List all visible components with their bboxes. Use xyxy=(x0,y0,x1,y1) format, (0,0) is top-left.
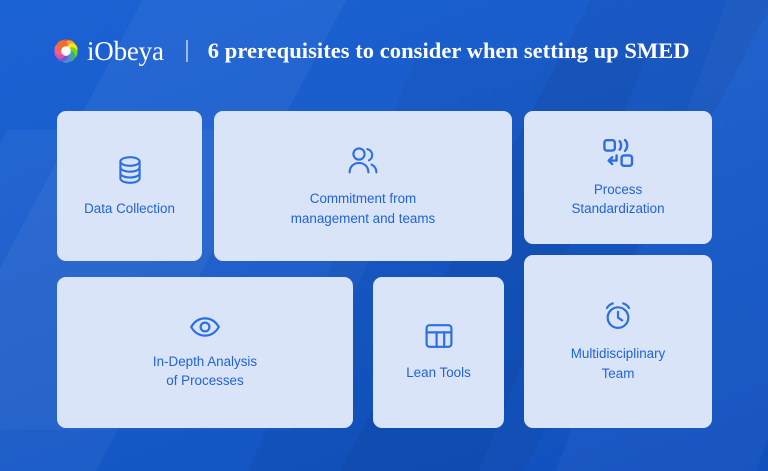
card-process-standardization[interactable]: Process Standardization xyxy=(524,111,712,244)
card-lean-tools[interactable]: Lean Tools xyxy=(373,277,504,428)
card-multidisciplinary-team[interactable]: Multidisciplinary Team xyxy=(524,255,712,428)
brand-name: iObeya xyxy=(87,38,164,65)
card-commitment[interactable]: Commitment from management and teams xyxy=(214,111,512,261)
card-label: Lean Tools xyxy=(406,363,471,382)
alarm-clock-icon xyxy=(602,300,634,332)
card-in-depth-analysis[interactable]: In-Depth Analysis of Processes xyxy=(57,277,353,428)
board-layout-icon xyxy=(424,322,454,350)
header-bar: iObeya 6 prerequisites to consider when … xyxy=(52,33,690,69)
iobeya-flower-logo-icon xyxy=(52,37,80,65)
card-label: In-Depth Analysis of Processes xyxy=(153,352,257,390)
card-label: Commitment from management and teams xyxy=(291,189,435,227)
card-label: Multidisciplinary Team xyxy=(571,344,666,382)
users-icon xyxy=(346,144,380,176)
page-title: 6 prerequisites to consider when setting… xyxy=(208,40,690,63)
card-data-collection[interactable]: Data Collection xyxy=(57,111,202,261)
process-flow-icon xyxy=(602,137,635,169)
database-icon xyxy=(115,154,145,186)
card-label: Data Collection xyxy=(84,199,175,218)
eye-icon xyxy=(189,315,221,339)
card-label: Process Standardization xyxy=(571,180,664,218)
header-divider xyxy=(186,40,188,62)
infographic-canvas: iObeya 6 prerequisites to consider when … xyxy=(0,0,768,471)
